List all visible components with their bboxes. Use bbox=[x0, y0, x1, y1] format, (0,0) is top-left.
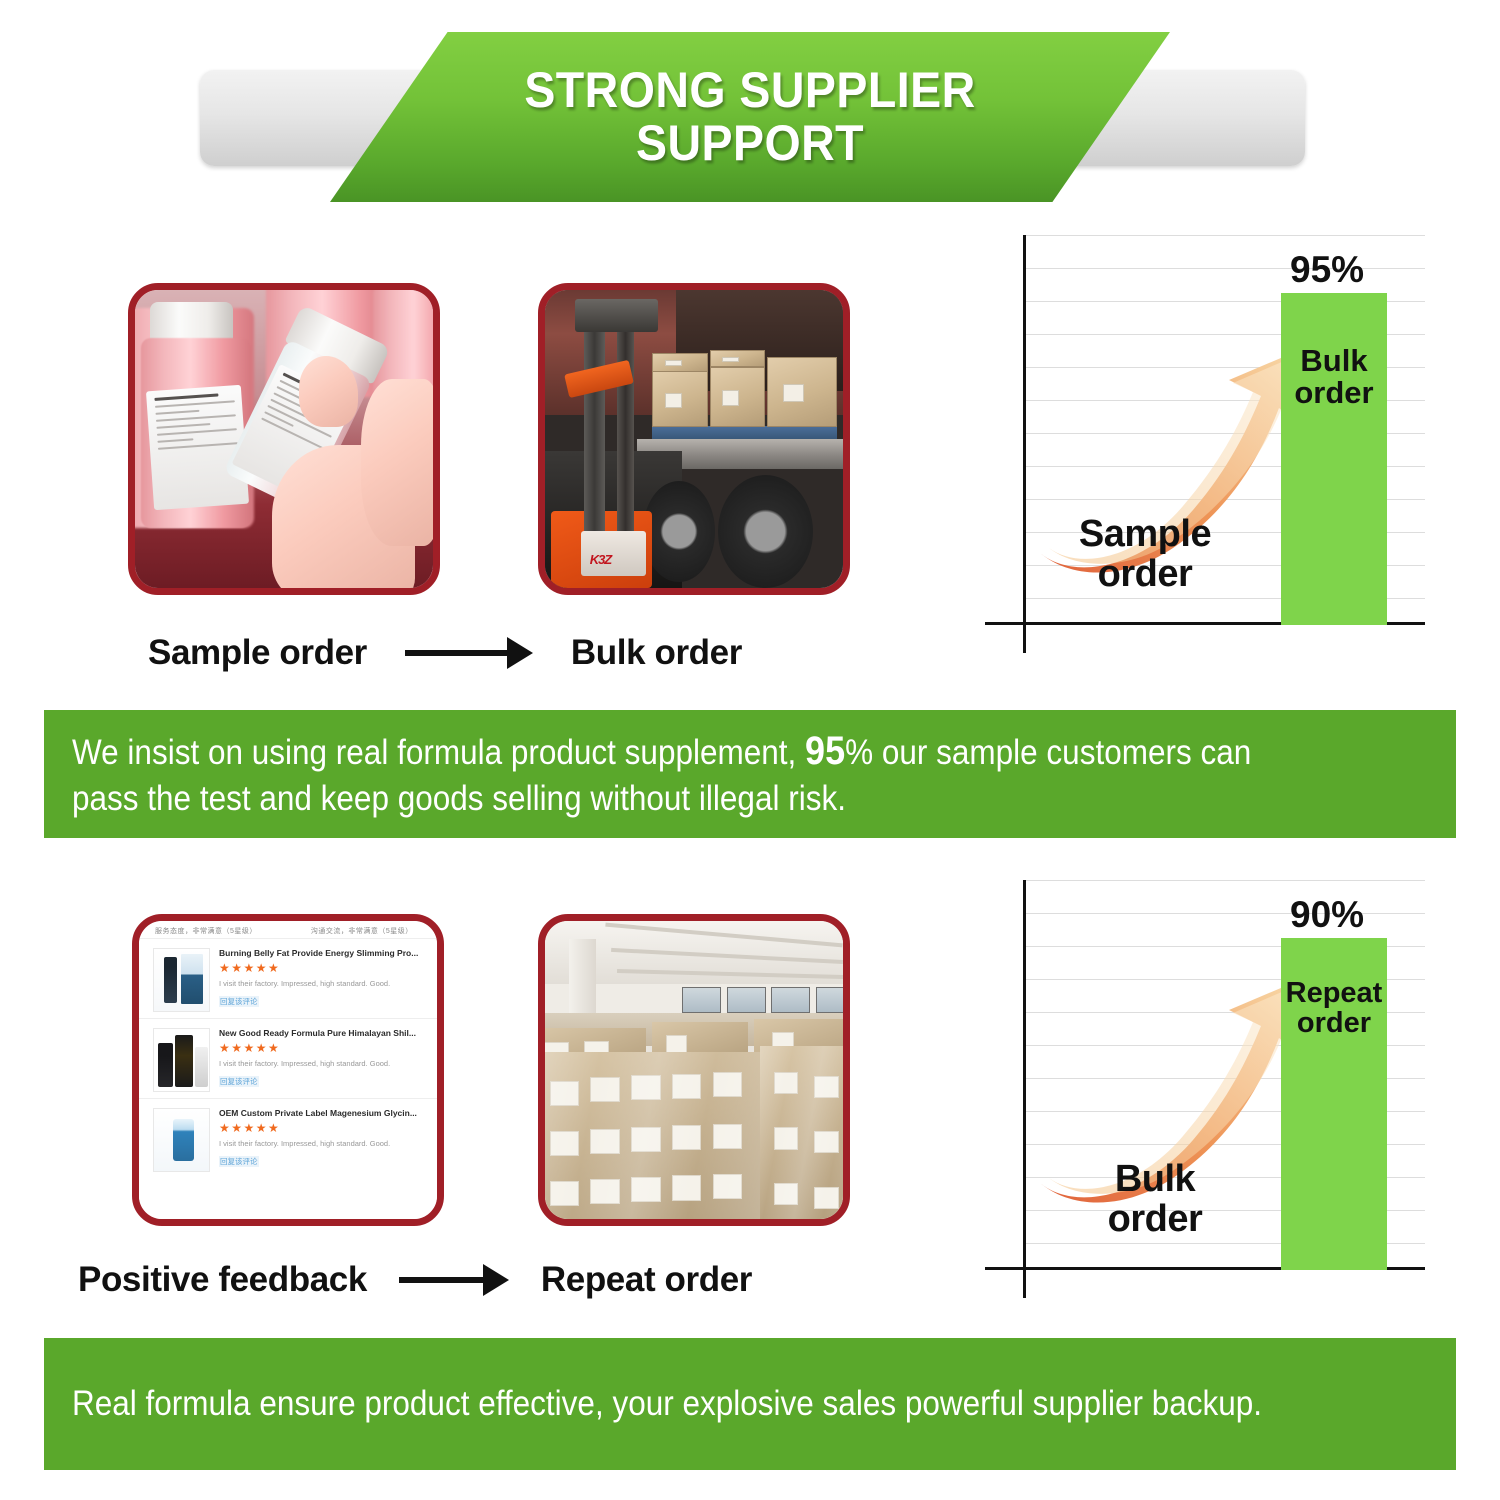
caption-bulk-order: Bulk order bbox=[571, 633, 742, 673]
chart-bar-bulk: Bulk order bbox=[1281, 293, 1387, 625]
review-comment: I visit their factory. Impressed, high s… bbox=[219, 1059, 427, 1068]
review-item[interactable]: OEM Custom Private Label Magenesium Glyc… bbox=[139, 1098, 437, 1178]
caption-positive-feedback: Positive feedback bbox=[78, 1260, 367, 1300]
review-comment: I visit their factory. Impressed, high s… bbox=[219, 979, 427, 988]
caption-row-bottom: Positive feedback Repeat order bbox=[78, 1252, 878, 1307]
chart-percent-90: 90% bbox=[1290, 894, 1364, 936]
reply-review-link[interactable]: 回复该评论 bbox=[219, 996, 259, 1007]
review-product-title: Burning Belly Fat Provide Energy Slimmin… bbox=[219, 948, 427, 958]
rating-stars-icon: ★★★★★ bbox=[219, 962, 427, 974]
banner-bottom: Real formula ensure product effective, y… bbox=[44, 1338, 1456, 1470]
page-title-line2: SUPPORT bbox=[636, 117, 864, 170]
review-comment: I visit their factory. Impressed, high s… bbox=[219, 1139, 427, 1148]
caption-row-top: Sample order Bulk order bbox=[148, 625, 848, 680]
banner-top-before: We insist on using real formula product … bbox=[72, 733, 805, 772]
banner-top: We insist on using real formula product … bbox=[44, 710, 1456, 838]
chart-bar-label-bulk: Bulk order bbox=[1281, 345, 1387, 409]
chart-bar-label-repeat: Repeat order bbox=[1281, 978, 1387, 1038]
product-thumbnail bbox=[153, 1028, 210, 1092]
review-item[interactable]: Burning Belly Fat Provide Energy Slimmin… bbox=[139, 938, 437, 1018]
banner-top-highlight: 95 bbox=[805, 729, 845, 773]
banner-bottom-text: Real formula ensure product effective, y… bbox=[72, 1382, 1292, 1426]
reply-review-link[interactable]: 回复该评论 bbox=[219, 1076, 259, 1087]
chart-bulk-to-repeat: Bulk order Repeat order 90% bbox=[985, 880, 1425, 1310]
page-title-line1: STRONG SUPPLIER bbox=[524, 64, 975, 117]
product-thumbnail bbox=[153, 948, 210, 1012]
chart-sample-to-bulk: Sample order Bulk order 95% bbox=[985, 235, 1425, 665]
arrow-right-icon bbox=[399, 1277, 509, 1283]
review-meta-1: 沟通交流，非常满意（5星级） bbox=[311, 926, 413, 936]
review-product-title: OEM Custom Private Label Magenesium Glyc… bbox=[219, 1108, 427, 1118]
header-banner: STRONG SUPPLIER SUPPORT bbox=[0, 32, 1500, 202]
review-item[interactable]: New Good Ready Formula Pure Himalayan Sh… bbox=[139, 1018, 437, 1098]
photo-sample-order-bottles bbox=[128, 283, 440, 595]
review-product-title: New Good Ready Formula Pure Himalayan Sh… bbox=[219, 1028, 427, 1038]
review-meta-line: 服务态度，非常满意（5星级） 沟通交流，非常满意（5星级） bbox=[139, 921, 437, 938]
photo-bulk-order-forklift: K3Z bbox=[538, 283, 850, 595]
chart-bar-repeat: Repeat order bbox=[1281, 938, 1387, 1270]
banner-top-text: We insist on using real formula product … bbox=[72, 726, 1292, 821]
photo-warehouse-pallets bbox=[538, 914, 850, 1226]
rating-stars-icon: ★★★★★ bbox=[219, 1042, 427, 1054]
chart-y-axis bbox=[1023, 880, 1026, 1298]
infographic-page: STRONG SUPPLIER SUPPORT bbox=[0, 0, 1500, 1500]
review-list: 服务态度，非常满意（5星级） 沟通交流，非常满意（5星级） Burning Be… bbox=[139, 921, 437, 1219]
chart-left-label-sample: Sample order bbox=[1025, 515, 1265, 594]
caption-repeat-order: Repeat order bbox=[541, 1260, 752, 1300]
chart-left-label-bulk: Bulk order bbox=[1045, 1160, 1265, 1239]
page-title: STRONG SUPPLIER SUPPORT bbox=[359, 32, 1140, 202]
review-meta-0: 服务态度，非常满意（5星级） bbox=[155, 926, 257, 936]
caption-sample-order: Sample order bbox=[148, 633, 367, 673]
forklift-brand-label: K3Z bbox=[590, 552, 612, 567]
rating-stars-icon: ★★★★★ bbox=[219, 1122, 427, 1134]
product-thumbnail bbox=[153, 1108, 210, 1172]
arrow-right-icon bbox=[405, 650, 533, 656]
reply-review-link[interactable]: 回复该评论 bbox=[219, 1156, 259, 1167]
chart-percent-95: 95% bbox=[1290, 249, 1364, 291]
photo-positive-feedback-reviews: 服务态度，非常满意（5星级） 沟通交流，非常满意（5星级） Burning Be… bbox=[132, 914, 444, 1226]
